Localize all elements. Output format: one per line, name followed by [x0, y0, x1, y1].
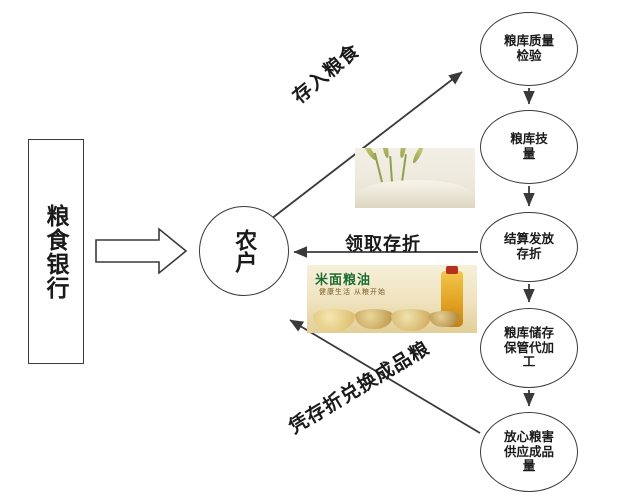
- node-grain-bank[interactable]: 粮食银行: [28, 139, 84, 364]
- node-store-process[interactable]: 粮库储存保管代加工: [480, 308, 578, 388]
- grain-oil-photo-subtitle: 健康生活 从粮开始: [319, 287, 386, 297]
- node-settle-passbook-label: 结算发放存折: [498, 232, 560, 262]
- node-settle-passbook[interactable]: 结算发放存折: [480, 212, 578, 282]
- node-supply-finished-grain[interactable]: 放心粮害供应成品量: [480, 412, 578, 492]
- arrow-bank-to-farmer: [96, 229, 186, 273]
- node-quality-check[interactable]: 粮库质量检验: [480, 12, 578, 86]
- node-weigh[interactable]: 粮库技量: [480, 110, 578, 184]
- edge-label-get-passbook: 领取存折: [345, 230, 421, 256]
- node-farmer-label: 农户: [230, 229, 259, 273]
- node-supply-finished-grain-label: 放心粮害供应成品量: [499, 430, 559, 474]
- grain-oil-photo-title: 米面粮油: [315, 269, 371, 288]
- grain-bowl-icon: [391, 309, 431, 331]
- grain-bowl-icon: [355, 309, 393, 329]
- rice-photo: [355, 148, 475, 208]
- node-grain-bank-label: 粮食银行: [42, 204, 70, 300]
- grain-oil-photo: 米面粮油 健康生活 从粮开始: [307, 265, 477, 333]
- node-quality-check-label: 粮库质量检验: [500, 34, 558, 64]
- diagram-canvas: 粮食银行 农户 粮库质量检验 粮库技量 结算发放存折 粮库储存保管代加工 放心粮…: [0, 0, 640, 502]
- oil-bottle-cap-icon: [446, 266, 458, 274]
- grain-bowl-icon: [313, 309, 355, 331]
- node-weigh-label: 粮库技量: [509, 132, 549, 162]
- node-farmer[interactable]: 农户: [199, 206, 289, 296]
- node-store-process-label: 粮库储存保管代加工: [498, 326, 560, 370]
